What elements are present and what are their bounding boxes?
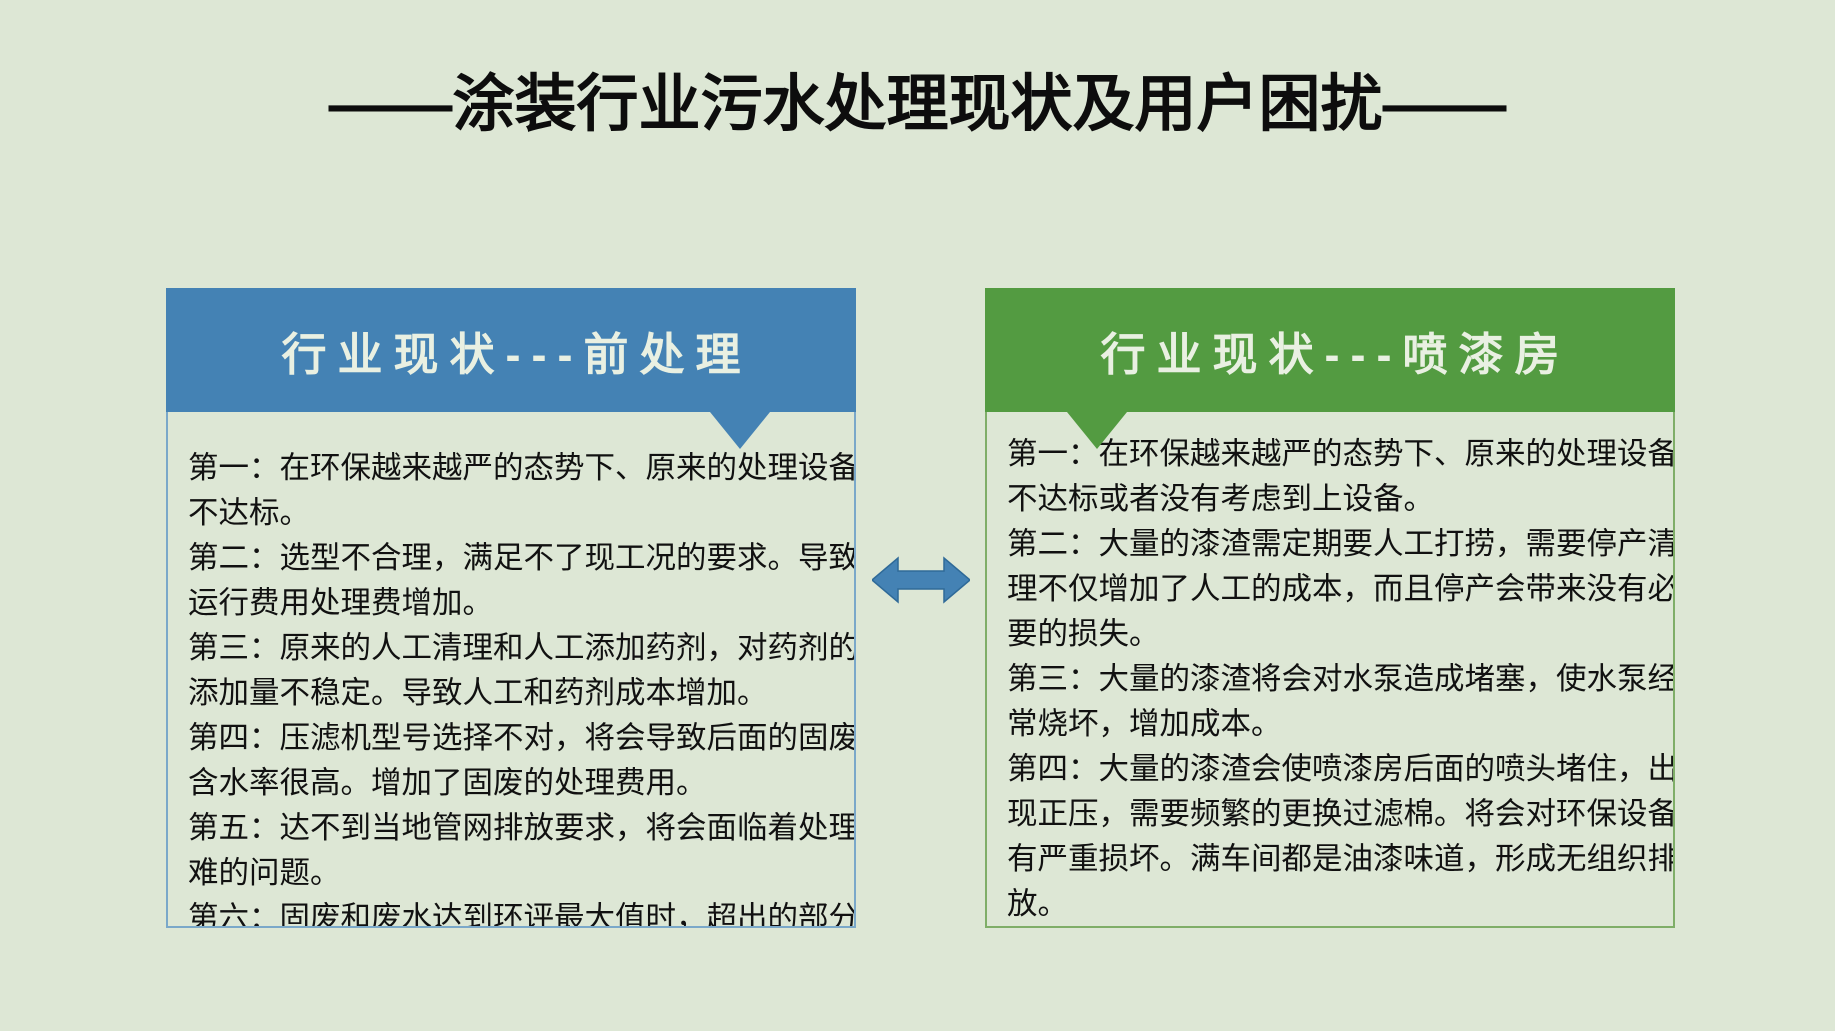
panel-spray-booth-body: 第一：在环保越来越严的态势下、原来的处理设备 不达标或者没有考虑到上设备。 第二… bbox=[985, 412, 1675, 928]
panel-pretreatment: 行业现状---前处理 第一：在环保越来越严的态势下、原来的处理设备 不达标。 第… bbox=[166, 288, 856, 928]
speech-bubble-notch-icon bbox=[1067, 412, 1127, 449]
panel-pretreatment-header: 行业现状---前处理 bbox=[166, 288, 856, 412]
panel-pretreatment-header-label: 行业现状---前处理 bbox=[271, 318, 752, 383]
page-title: ——涂装行业污水处理现状及用户困扰—— bbox=[0, 74, 1835, 136]
panel-spray-booth: 行业现状---喷漆房 第一：在环保越来越严的态势下、原来的处理设备 不达标或者没… bbox=[985, 288, 1675, 928]
double-arrow-horizontal-icon bbox=[872, 552, 970, 608]
panel-pretreatment-body: 第一：在环保越来越严的态势下、原来的处理设备 不达标。 第二：选型不合理，满足不… bbox=[166, 412, 856, 928]
speech-bubble-notch-icon bbox=[710, 412, 770, 449]
connector-double-arrow bbox=[872, 552, 970, 608]
panel-spray-booth-header: 行业现状---喷漆房 bbox=[985, 288, 1675, 412]
panel-spray-booth-header-label: 行业现状---喷漆房 bbox=[1090, 318, 1571, 383]
